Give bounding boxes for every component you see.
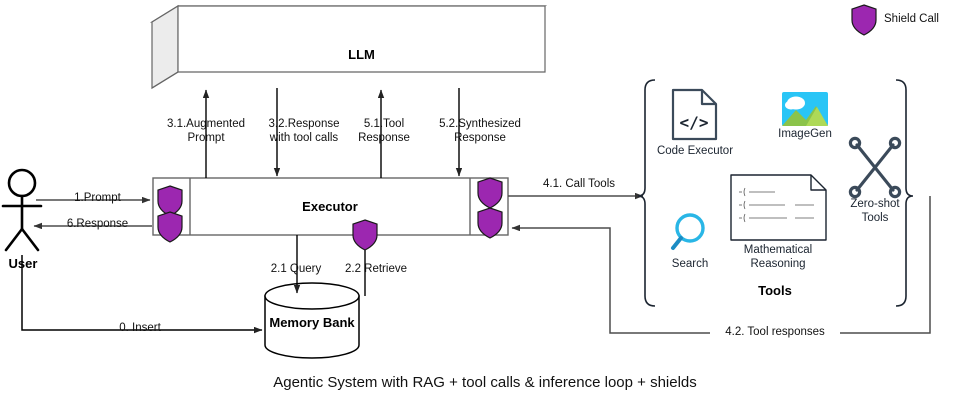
- executor-label: Executor: [190, 199, 470, 214]
- tools-brace-left: [638, 80, 655, 306]
- crossed-wrenches-icon: [850, 138, 899, 196]
- user-figure: [3, 170, 41, 250]
- edge-label-call-tools: 4.1. Call Tools: [520, 178, 638, 192]
- edge-label-synthesized-response: 5.2.Synthesized Response: [418, 118, 542, 145]
- edge-label-insert: 0. Insert: [85, 322, 195, 336]
- magnifier-icon: [673, 215, 703, 248]
- tool-label-imagegen: ImageGen: [762, 128, 848, 142]
- tool-label-search: Search: [656, 258, 724, 272]
- user-label: User: [0, 256, 46, 271]
- tool-label-zero-shot-tools: Zero-shot Tools: [838, 198, 912, 225]
- edge-label-retrieve: 2.2 Retrieve: [328, 263, 424, 277]
- shield-output-response: [158, 212, 182, 242]
- edge-label-response: 6.Response: [45, 218, 150, 232]
- shield-legend-icon: [852, 5, 876, 35]
- image-gen-icon: [782, 92, 828, 126]
- shield-memory-retrieve: [353, 220, 377, 250]
- edge-label-prompt: 1.Prompt: [45, 192, 150, 206]
- edge-label-tool-responses: 4.2. Tool responses: [710, 326, 840, 340]
- tools-group-label: Tools: [740, 284, 810, 298]
- diagram-caption: Agentic System with RAG + tool calls & i…: [0, 376, 970, 390]
- memory-bank-label: Memory Bank: [265, 315, 359, 330]
- diagram-canvas: </>: [0, 0, 970, 411]
- tool-label-mathematical-reasoning: Mathematical Reasoning: [730, 244, 826, 271]
- legend-shield-label: Shield Call: [884, 13, 939, 25]
- llm-label: LLM: [178, 47, 545, 62]
- tool-label-code-executor: Code Executor: [647, 145, 743, 159]
- code-document-icon: </>: [673, 90, 716, 139]
- svg-text:</>: </>: [680, 113, 709, 132]
- edge-label-query: 2.1 Query: [253, 263, 339, 277]
- formula-document-icon: [731, 175, 826, 240]
- edge-insert: [22, 255, 262, 330]
